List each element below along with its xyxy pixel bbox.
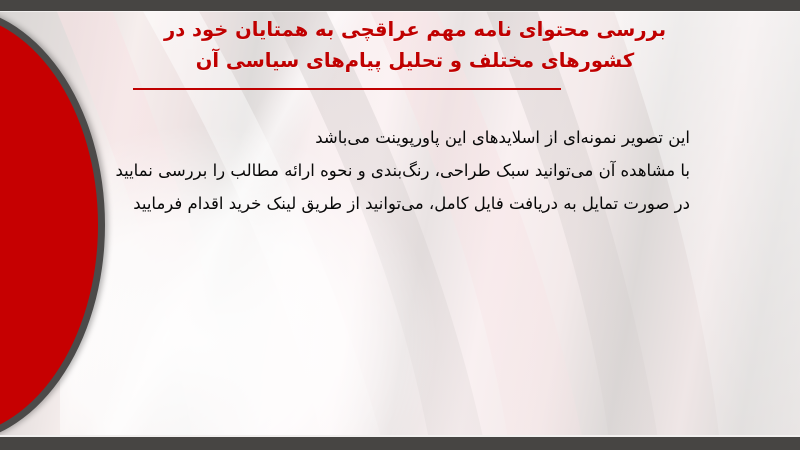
top-frame-bar: [0, 0, 800, 11]
body-line-1: این تصویر نمونه‌ای از اسلایدهای این پاور…: [90, 121, 690, 154]
body-line-3: در صورت تمایل به دریافت فایل کامل، می‌تو…: [90, 187, 690, 220]
bottom-frame-hairline: [0, 435, 800, 437]
title-line-2: کشورهای مختلف و تحلیل پیام‌های سیاسی آن: [192, 45, 638, 78]
title-line-2-wrapper: کشورهای مختلف و تحلیل پیام‌های سیاسی آن: [105, 45, 725, 78]
bottom-frame-bar: [0, 437, 800, 450]
top-frame-hairline: [0, 11, 800, 12]
slide-title: بررسی محتوای نامه مهم عراقچی به همتایان …: [105, 14, 725, 78]
slide-content: بررسی محتوای نامه مهم عراقچی به همتایان …: [0, 11, 800, 437]
body-line-2: با مشاهده آن می‌توانید سبک طراحی، رنگ‌بن…: [90, 154, 690, 187]
title-line-1: بررسی محتوای نامه مهم عراقچی به همتایان …: [105, 14, 725, 45]
presentation-slide: بررسی محتوای نامه مهم عراقچی به همتایان …: [0, 0, 800, 450]
slide-body-text: این تصویر نمونه‌ای از اسلایدهای این پاور…: [90, 121, 690, 220]
title-underline-rule: [133, 88, 561, 90]
